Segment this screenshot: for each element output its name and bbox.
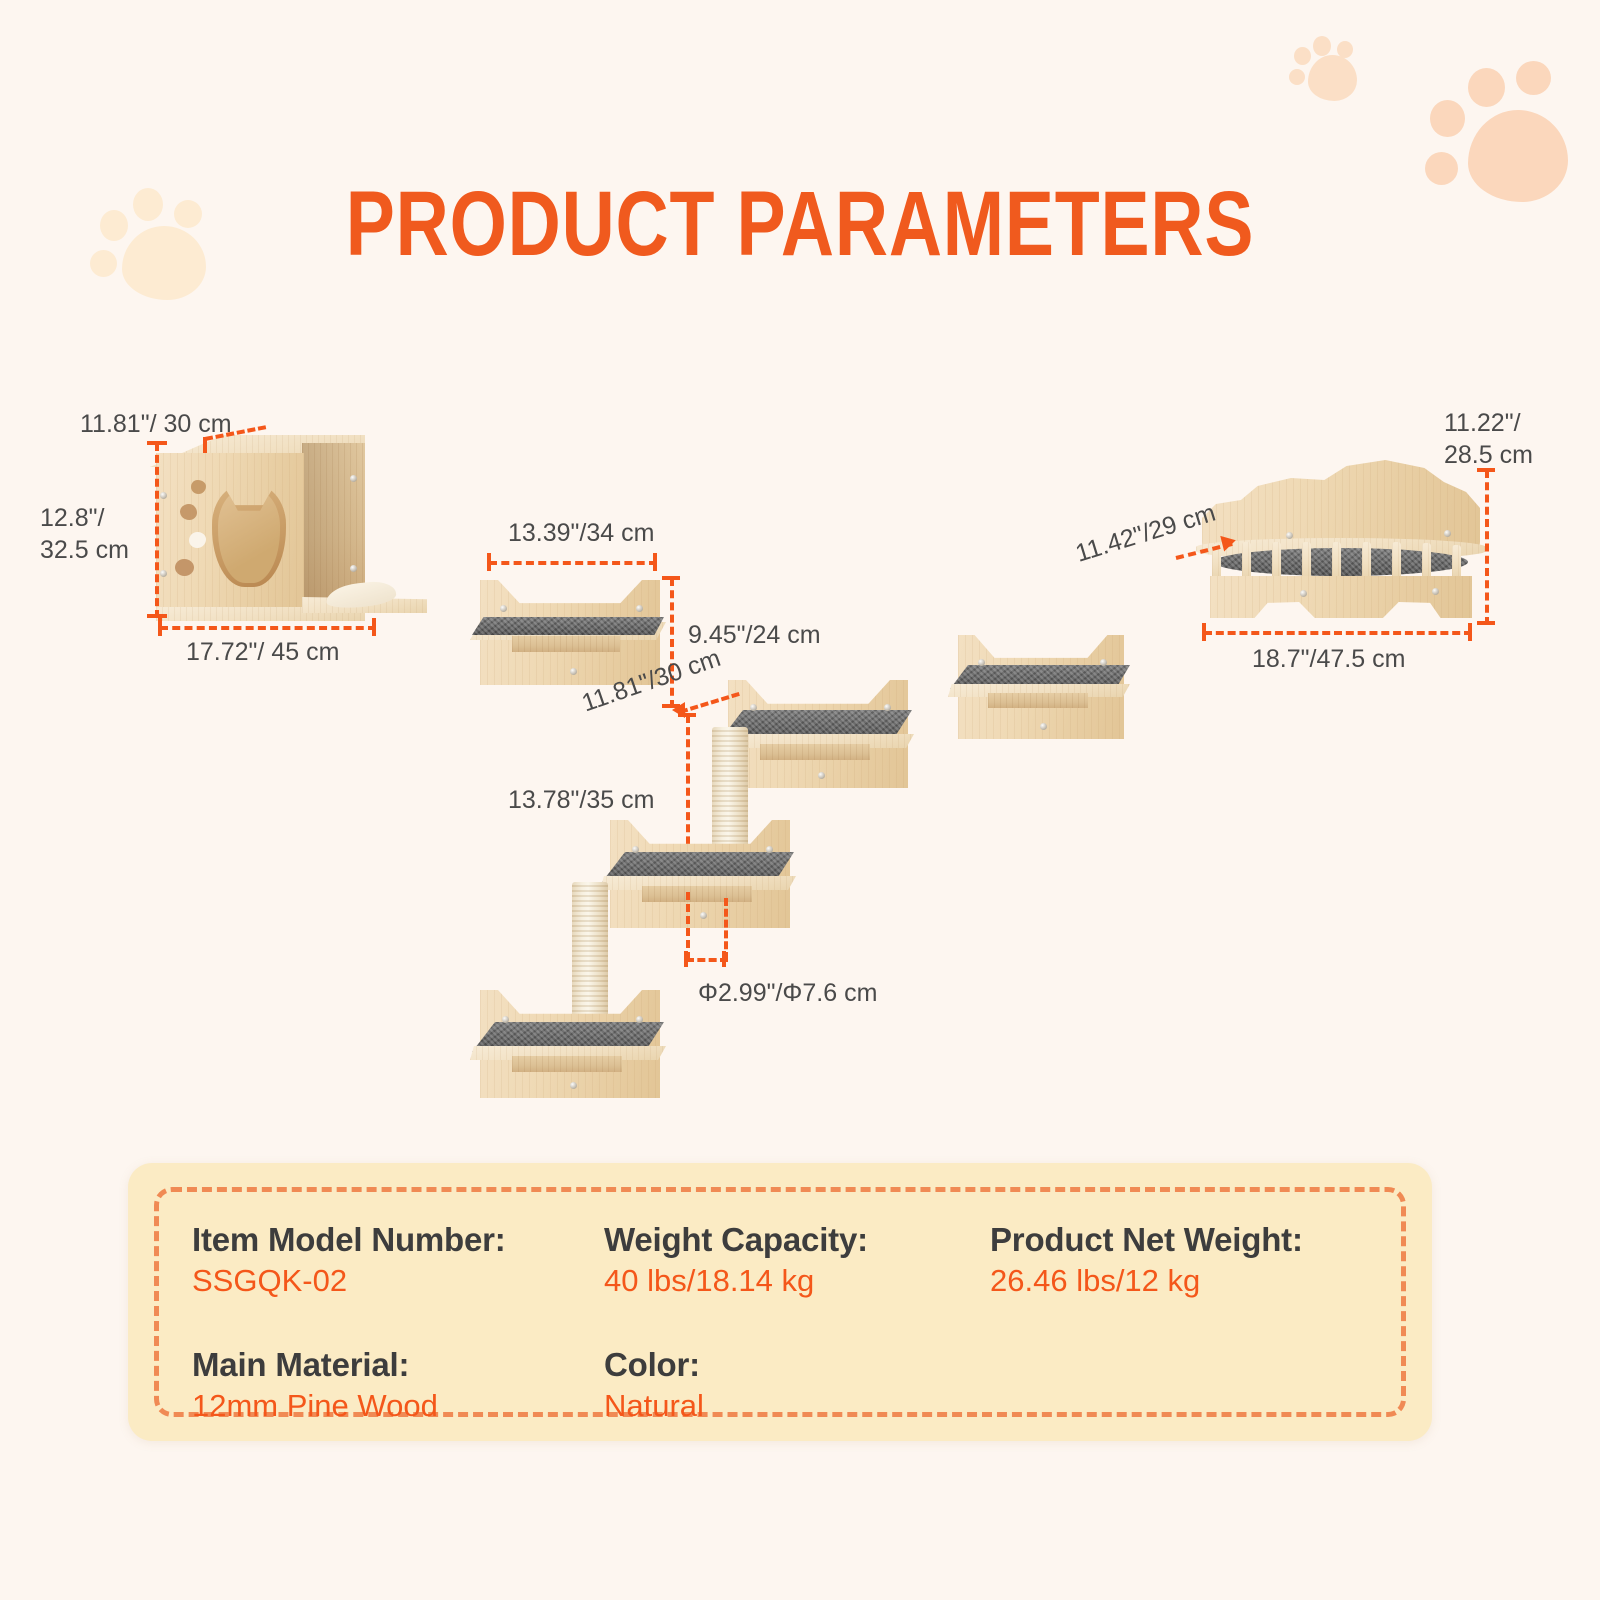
paw-print-top-small-icon [1288,28,1368,108]
guide-house-width-tick-left [158,618,162,636]
shelf-support-bracket [512,1056,622,1072]
dim-post-diameter: Φ2.99"/Φ7.6 cm [698,978,877,1010]
house-screw-2 [160,570,167,577]
dim-house-width: 17.72"/ 45 cm [186,637,339,669]
spec-grid: Item Model Number: SSGQK-02 Weight Capac… [192,1221,1392,1426]
spec-item-main-material: Main Material: 12mm Pine Wood [192,1346,604,1427]
shelf-screw-mid [570,668,577,675]
flower-hole-4-icon [175,559,194,576]
guide-house-height-tick-top [147,441,167,445]
shelf-support-bracket [642,886,752,902]
guide-post-diameter-left [686,892,690,960]
cat-shelf-single [948,635,1133,745]
guide-shelf-gap-tick-top [662,576,680,580]
shelf-screw-left [978,659,985,666]
guide-shelf-width-tick-left [487,553,491,571]
house-screw-3 [350,475,357,482]
cloud-backboard [1202,452,1480,552]
spec-item-color: Color: Natural [604,1346,990,1427]
shelf-support-bracket [988,693,1088,708]
page-title: PRODUCT PARAMETERS [160,178,1440,270]
cloud-screw-left [1286,532,1293,539]
guide-cloud-width [1204,631,1472,635]
spec-value: 26.46 lbs/12 kg [990,1261,1392,1301]
baluster [1302,542,1311,580]
paw-print-top-large-icon [1424,60,1576,215]
guide-shelf-width [489,561,657,565]
dim-shelf-width: 13.39"/34 cm [508,518,654,550]
guide-cloud-height [1485,470,1489,625]
guide-post-diameter-tick-right [722,951,726,967]
dim-cloud-height: 11.22"/ 28.5 cm [1444,408,1533,471]
cloud-screw-skirt-right [1432,588,1439,595]
guide-house-height [155,443,159,618]
guide-post-diameter-tick-left [684,951,688,967]
spec-label: Item Model Number: [192,1221,604,1259]
stair-shelf-third [600,820,800,935]
shelf-support-bracket [760,744,870,760]
spec-value: 12mm Pine Wood [192,1386,604,1426]
house-screw-1 [160,492,167,499]
guide-post-height-tick-top [678,713,696,717]
house-interior-shadow [302,443,365,598]
spec-item-weight-capacity: Weight Capacity: 40 lbs/18.14 kg [604,1221,990,1302]
spec-item-empty [990,1346,1392,1427]
spec-label: Product Net Weight: [990,1221,1392,1259]
shelf-screw-mid [1040,723,1047,730]
shelf-screw-right [766,846,773,853]
shelf-screw-mid [818,772,825,779]
shelf-support-bracket [512,636,620,652]
spec-item-model-number: Item Model Number: SSGQK-02 [192,1221,604,1302]
shelf-screw-left [500,605,507,612]
stair-shelf-bottom [470,990,670,1105]
guide-cloud-height-tick-bottom [1477,621,1495,625]
shelf-screw-right [884,704,891,711]
cloud-screw-skirt-left [1300,590,1307,597]
cloud-shelf [1196,452,1486,617]
house-screw-4 [350,565,357,572]
spec-item-product-net-weight: Product Net Weight: 26.46 lbs/12 kg [990,1221,1392,1302]
spec-value: SSGQK-02 [192,1261,604,1301]
guide-house-height-tick-bottom [147,614,167,618]
dim-house-height: 12.8"/ 32.5 cm [40,503,129,566]
shelf-screw-left [502,1016,509,1023]
guide-house-width-tick-right [372,618,376,636]
flower-hole-2-icon [180,504,197,520]
spec-value: 40 lbs/18.14 kg [604,1261,990,1301]
guide-cloud-width-tick-left [1202,623,1206,641]
guide-cloud-width-tick-right [1468,623,1472,641]
shelf-screw-right [636,605,643,612]
dim-cloud-width: 18.7"/47.5 cm [1252,644,1405,676]
spec-value: Natural [604,1386,990,1426]
spec-label: Weight Capacity: [604,1221,990,1259]
guide-house-width [160,626,376,630]
spec-box: Item Model Number: SSGQK-02 Weight Capac… [128,1163,1432,1441]
spec-label: Main Material: [192,1346,604,1384]
shelf-screw-right [636,1016,643,1023]
baluster [1332,542,1341,580]
shelf-screw-left [750,704,757,711]
baluster [1392,542,1401,580]
shelf-screw-right [1100,659,1107,666]
dim-house-depth: 11.81"/ 30 cm [80,409,232,441]
cloud-screw-right [1444,530,1451,537]
product-parameters-page: PRODUCT PARAMETERS 11.81"/ 30 cm [0,0,1600,1600]
cat-house [150,425,430,630]
stair-shelf-second [718,680,918,795]
spec-label: Color: [604,1346,990,1384]
cloud-skirt [1210,576,1472,618]
baluster [1272,542,1281,580]
guide-shelf-width-tick-right [653,553,657,571]
baluster [1422,543,1431,580]
baluster [1242,542,1251,580]
baluster [1362,542,1371,580]
baluster [1452,545,1461,579]
dim-post-height: 13.78"/35 cm [508,785,654,817]
shelf-screw-mid [700,912,707,919]
shelf-carpet-pad [472,617,664,635]
shelf-screw-mid [570,1082,577,1089]
shelf-screw-left [632,846,639,853]
